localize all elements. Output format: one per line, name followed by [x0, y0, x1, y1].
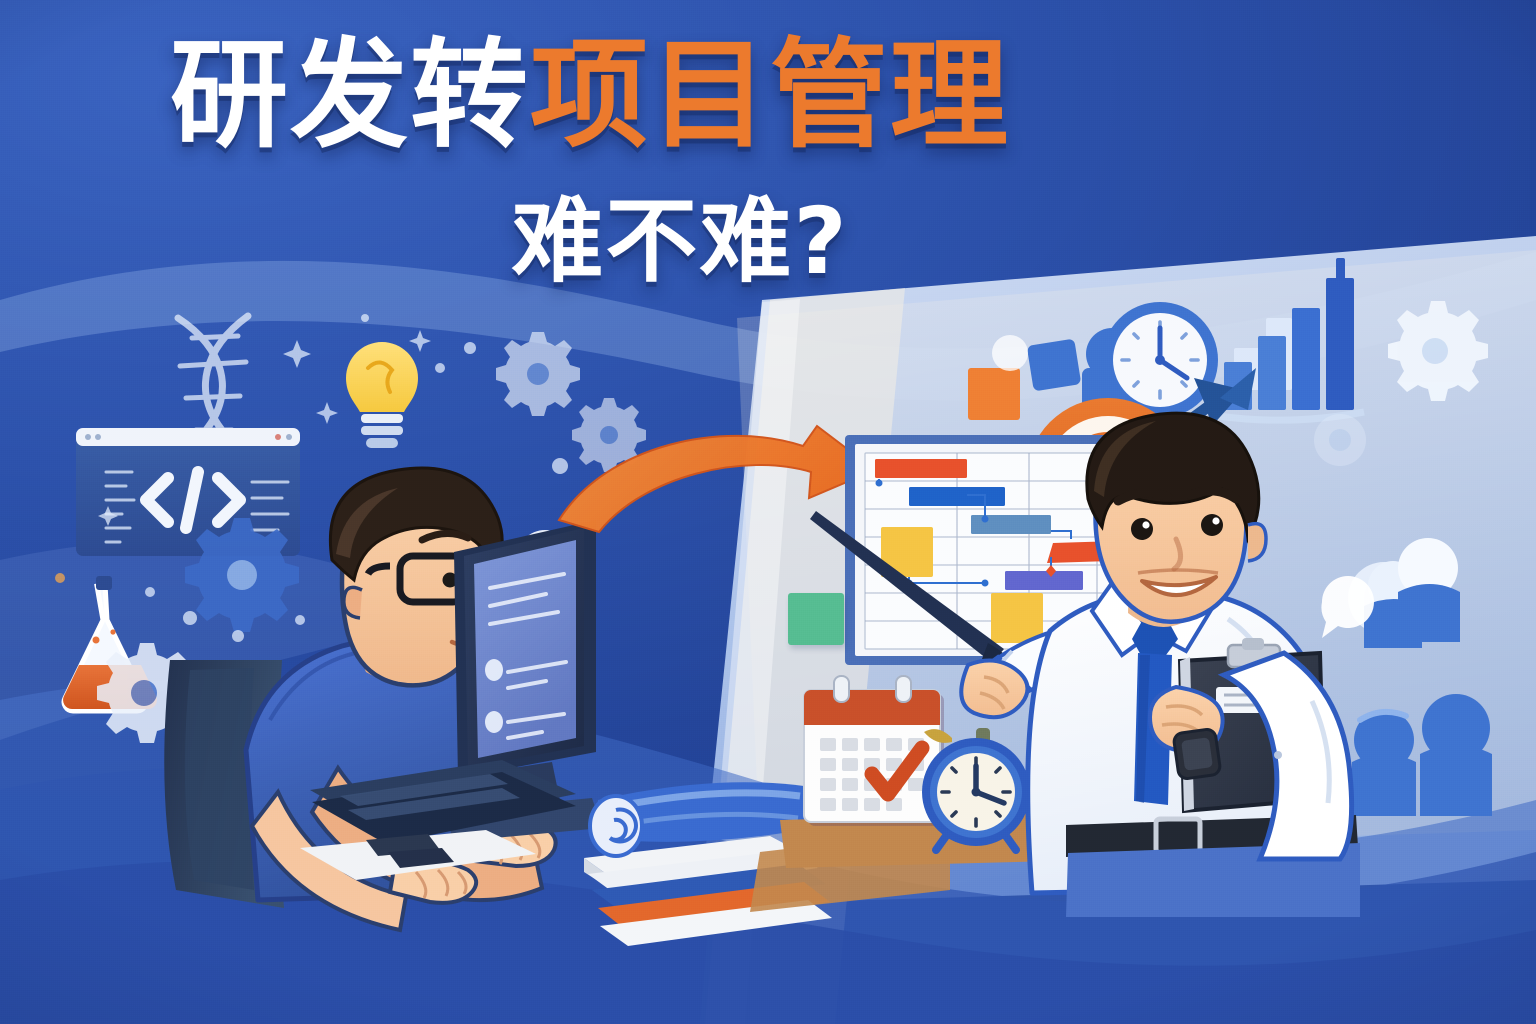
gear-icon: [496, 332, 580, 416]
eye-icon: [1201, 514, 1223, 536]
mouse-icon: [300, 830, 536, 880]
title-orange-part: 项目管理: [530, 26, 1010, 164]
poster-title-block: 研发转项目管理 难不难?: [0, 34, 1180, 300]
gear-icon: [1388, 301, 1488, 401]
sticky-note-green[interactable]: [788, 593, 844, 645]
hand-holding-pointer: [961, 661, 1027, 718]
title-white-part: 研发转: [170, 26, 530, 164]
poster-canvas: 研发转项目管理 难不难?: [0, 0, 1536, 1024]
eye-icon: [1131, 518, 1153, 540]
title-line-2: 难不难?: [0, 167, 1180, 300]
project-manager-figure: [880, 395, 1400, 915]
smartwatch-icon: [1173, 728, 1221, 779]
decorative-dot: [992, 335, 1028, 371]
calendar-ring: [834, 676, 849, 702]
title-line-1: 研发转项目管理: [0, 34, 1180, 157]
